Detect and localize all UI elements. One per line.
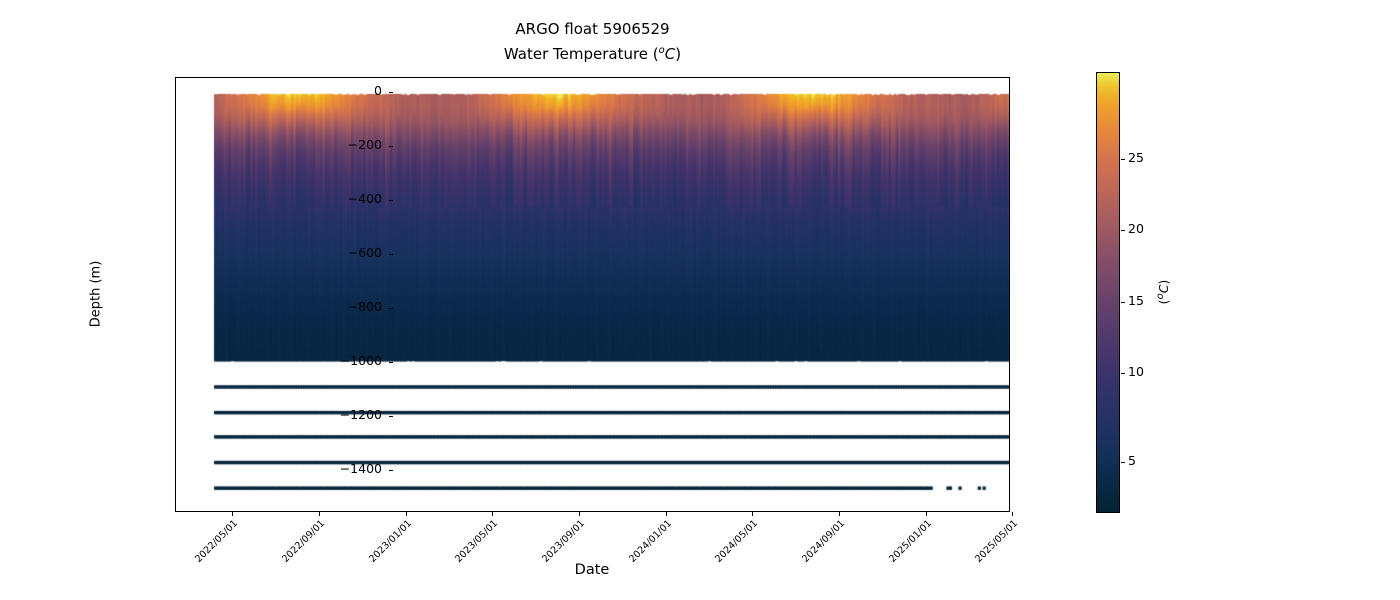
x-tick-label: 2023/01/01	[367, 518, 414, 565]
y-tick-label: −400	[348, 191, 382, 206]
y-tick-label: −800	[348, 299, 382, 314]
x-tick-mark	[839, 512, 840, 516]
colorbar-tick-label: 5	[1128, 453, 1136, 468]
x-tick-mark	[319, 512, 320, 516]
y-tick-mark	[389, 146, 393, 147]
x-tick-label: 2024/01/01	[627, 518, 674, 565]
x-tick-mark	[926, 512, 927, 516]
y-tick-mark	[389, 416, 393, 417]
colorbar-tick-mark	[1121, 462, 1125, 463]
x-axis-label: Date	[575, 562, 610, 578]
title-line-float-id: ARGO float 5906529	[175, 18, 1010, 40]
x-tick-label: 2023/05/01	[453, 518, 500, 565]
y-tick-label: −1400	[340, 461, 382, 476]
colorbar-tick-label: 25	[1128, 150, 1144, 165]
plot-axes	[175, 77, 1010, 512]
x-tick-label: 2024/05/01	[713, 518, 760, 565]
figure-title: ARGO float 5906529 Water Temperature (oC…	[175, 18, 1010, 65]
x-tick-mark	[579, 512, 580, 516]
y-tick-label: 0	[374, 83, 382, 98]
y-tick-mark	[389, 92, 393, 93]
x-tick-mark	[1012, 512, 1013, 516]
colorbar-label-prefix: (	[1156, 299, 1171, 304]
figure-canvas: ARGO float 5906529 Water Temperature (oC…	[0, 0, 1400, 600]
title-line-variable: Water Temperature (oC)	[175, 40, 1010, 65]
colorbar-tick-mark	[1121, 159, 1125, 160]
title-variable-suffix: )	[675, 45, 681, 63]
colorbar-gradient	[1097, 73, 1119, 512]
x-tick-label: 2022/09/01	[280, 518, 327, 565]
y-tick-mark	[389, 308, 393, 309]
colorbar-label-suffix: )	[1156, 280, 1171, 285]
temperature-heatmap	[176, 78, 1010, 512]
y-tick-label: −1200	[340, 407, 382, 422]
x-tick-label: 2022/05/01	[193, 518, 240, 565]
y-tick-label: −200	[348, 137, 382, 152]
colorbar-tick-label: 20	[1128, 221, 1144, 236]
x-tick-label: 2024/09/01	[800, 518, 847, 565]
colorbar-tick-label: 15	[1128, 293, 1144, 308]
colorbar-label: (oC)	[1155, 280, 1171, 305]
degree-superscript-icon: o	[1155, 293, 1166, 299]
x-tick-mark	[232, 512, 233, 516]
y-tick-mark	[389, 470, 393, 471]
y-tick-mark	[389, 200, 393, 201]
colorbar-tick-mark	[1121, 373, 1125, 374]
x-tick-mark	[666, 512, 667, 516]
colorbar-tick-label: 10	[1128, 364, 1144, 379]
x-tick-label: 2025/01/01	[887, 518, 934, 565]
y-tick-mark	[389, 254, 393, 255]
x-tick-mark	[752, 512, 753, 516]
y-tick-label: −1000	[340, 353, 382, 368]
colorbar-tick-mark	[1121, 230, 1125, 231]
colorbar	[1096, 72, 1120, 513]
x-tick-label: 2023/09/01	[540, 518, 587, 565]
y-tick-mark	[389, 362, 393, 363]
colorbar-label-unit: C	[1156, 285, 1171, 294]
y-axis-label: Depth (m)	[89, 261, 104, 328]
title-variable-prefix: Water Temperature (	[504, 45, 659, 63]
x-tick-label: 2025/05/01	[973, 518, 1020, 565]
x-tick-mark	[406, 512, 407, 516]
y-tick-label: −600	[348, 245, 382, 260]
x-tick-mark	[492, 512, 493, 516]
colorbar-tick-mark	[1121, 302, 1125, 303]
title-variable-unit: C	[665, 45, 675, 63]
